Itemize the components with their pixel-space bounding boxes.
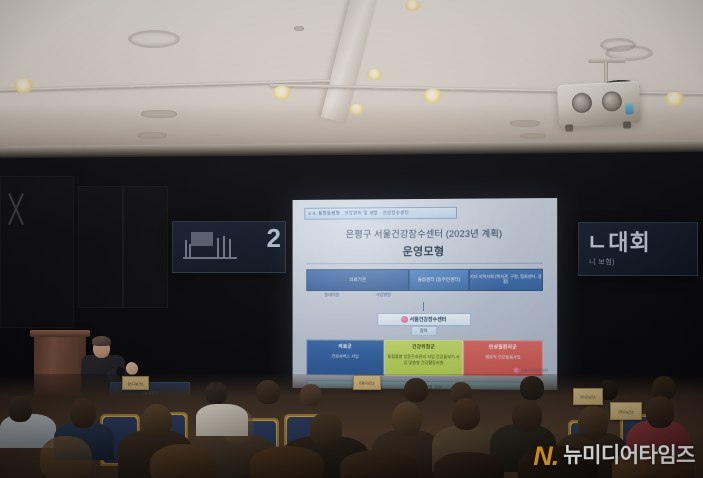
wall-panel [122, 186, 168, 308]
audience-head [310, 412, 342, 446]
slide-subtitle: 운영모형 [300, 242, 549, 259]
group-head: 의료군 [338, 343, 352, 350]
slide-footer-logo: 서울건강장수센터 [513, 368, 548, 374]
group-body: 통합돌봄 방문간호관리 사업 건강돌보기 사업 맞춤형 건강활동지원 [385, 354, 462, 366]
table-placard: 강남구보건소 [122, 376, 149, 390]
audience-head-front [40, 436, 92, 478]
people-illustration-icon [183, 230, 239, 262]
speaker-hair [92, 336, 111, 346]
table-placard-label: 은평구보건소 [359, 380, 375, 385]
diagram-box-medical: 의료기관 [306, 269, 409, 291]
slide-title: 은평구 서울건강장수센터 (2023년 계획) [300, 225, 549, 240]
diagram-group-medical: 의료군 건강서비스 사업 [306, 340, 384, 376]
audience-head [256, 380, 280, 404]
audience-head [8, 396, 32, 422]
table-placard: 강서구보건소 [573, 388, 603, 405]
audience-head [512, 400, 542, 432]
group-head: 건강위험군 [412, 343, 435, 350]
audience-head [300, 384, 322, 406]
audience-head-front [434, 452, 504, 478]
ceiling-vent [294, 26, 304, 31]
table-placard-label: 강서구보건소 [580, 394, 596, 399]
ceiling-vent [128, 30, 180, 48]
ceiling [0, 0, 703, 152]
audience-head-front [150, 444, 216, 478]
audience-head [578, 406, 608, 440]
banner-left: 2 [172, 221, 286, 273]
group-body: 건강서비스 사업 [330, 354, 361, 360]
diagram-sub-row: 동네의원 사업병원 [306, 291, 543, 302]
footer-logo-text: 서울건강장수센터 [521, 368, 548, 373]
footer-logo-icon [513, 368, 519, 374]
diagram-box-care-center: 돌봄센터 (동주민센터) [409, 269, 468, 291]
audience-head [205, 382, 227, 404]
audience-shoulders [196, 404, 248, 436]
diagram-top-row: 의료기관 돌봄센터 (동주민센터) 기타 지역사회 (복지관, 구청, 협회센터… [306, 269, 543, 291]
audience-head [452, 398, 480, 430]
table-placard-label: 강남구보건소 [128, 381, 144, 386]
banner-right-title: ㄴ대회 [587, 232, 651, 254]
audience-head [404, 378, 428, 402]
diagram-sub-label: 동네의원 [306, 291, 357, 302]
projection-screen: 2-4. 통합돌봄형 : 건강관리 및 개발 · 건강장수센터 은평구 서울건강… [293, 198, 558, 390]
audience-head-front [340, 450, 418, 478]
slide-section-tag-text: 2-4. 통합돌봄형 : 건강관리 및 개발 · 건강장수센터 [305, 210, 409, 217]
banner-right: ㄴ대회 니 보험) [578, 222, 698, 276]
banner-right-subtitle: 니 보험) [589, 257, 615, 267]
diagram-connector [423, 302, 424, 311]
table-placard: 금천구보건소 [610, 402, 642, 420]
watermark: N. 뉴미디어타임즈 [533, 444, 695, 468]
table-placard-label: 금천구보건소 [618, 409, 634, 414]
diagram-center-label: 서울건강장수센터 [410, 316, 447, 323]
diagram-three-column-row: 의료군 건강서비스 사업 건강위험군 통합돌봄 방문간호관리 사업 건강돌보기 … [306, 340, 543, 377]
diagram-center-box: 서울건강장수센터 [377, 313, 471, 326]
slide-divider [306, 263, 543, 265]
slide-section-tag: 2-4. 통합돌봄형 : 건강관리 및 개발 · 건강장수센터 [304, 207, 457, 220]
group-body: 예방적 건강돌봄사업 [483, 354, 522, 360]
audience-head [520, 376, 544, 400]
banner-left-number: 2 [267, 225, 280, 251]
ceiling-spot-light [367, 69, 383, 80]
audience-head [70, 398, 96, 428]
group-head: 만성질환자군 [489, 343, 517, 350]
audience-head [392, 402, 422, 436]
wall-logo-mark-icon [2, 192, 32, 226]
ceiling-spot-light [14, 79, 34, 93]
center-logo-icon [401, 316, 408, 323]
audience-head-front [250, 446, 324, 478]
diagram-group-at-risk: 건강위험군 통합돌봄 방문간호관리 사업 건강돌보기 사업 맞춤형 건강활동지원 [384, 340, 463, 376]
ceiling-spot-light [405, 0, 421, 11]
diagram-sub-label: 사업병원 [358, 291, 410, 302]
watermark-text: 뉴미디어타임즈 [563, 445, 695, 466]
wall-panel [78, 186, 124, 308]
table-placard: 은평구보건소 [353, 375, 381, 390]
audience-head [646, 396, 674, 428]
diagram-box-community: 기타 지역사회 (복지관, 구청, 협회센터, 경찰) [469, 269, 543, 291]
conference-photo-scene: 2 ㄴ대회 니 보험) 2-4. 통합돌봄형 : 건강관리 및 개발 · 건강장… [0, 0, 703, 478]
diagram-center-tail: 협력 [411, 326, 437, 336]
audience-head [142, 404, 172, 438]
podium-top [30, 330, 90, 337]
ceiling-spot-light [423, 89, 443, 103]
ceiling-spot-light [272, 86, 292, 100]
watermark-logo-icon: N. [533, 444, 558, 468]
presentation-slide: 2-4. 통합돌봄형 : 건강관리 및 개발 · 건강장수센터 은평구 서울건강… [293, 198, 558, 390]
